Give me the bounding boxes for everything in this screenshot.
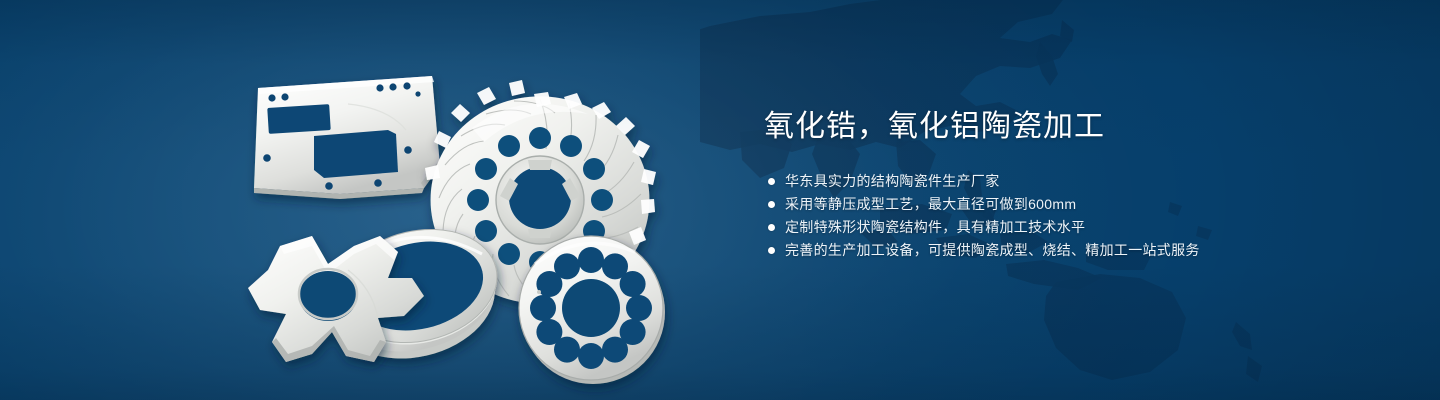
feature-text: 华东具实力的结构陶瓷件生产厂家 [785, 170, 1000, 192]
bullet-dot-icon [768, 201, 775, 208]
bullet-dot-icon [768, 224, 775, 231]
feature-text: 采用等静压成型工艺，最大直径可做到600mm [785, 193, 1076, 215]
ceramic-mounting-plate [254, 76, 440, 199]
page-title: 氧化锆，氧化铝陶瓷加工 [764, 108, 1384, 146]
feature-text: 定制特殊形状陶瓷结构件，具有精加工技术水平 [785, 216, 1085, 238]
bullet-dot-icon [768, 247, 775, 254]
list-item: 定制特殊形状陶瓷结构件，具有精加工技术水平 [764, 216, 1384, 238]
list-item: 华东具实力的结构陶瓷件生产厂家 [764, 170, 1384, 192]
copy-block: 氧化锆，氧化铝陶瓷加工 华东具实力的结构陶瓷件生产厂家 采用等静压成型工艺，最大… [764, 108, 1384, 262]
feature-list: 华东具实力的结构陶瓷件生产厂家 采用等静压成型工艺，最大直径可做到600mm 定… [764, 170, 1384, 261]
bullet-dot-icon [768, 178, 775, 185]
feature-text: 完善的生产加工设备，可提供陶瓷成型、烧结、精加工一站式服务 [785, 239, 1200, 261]
list-item: 完善的生产加工设备，可提供陶瓷成型、烧结、精加工一站式服务 [764, 239, 1384, 261]
ceramic-perforated-disc [519, 236, 665, 384]
list-item: 采用等静压成型工艺，最大直径可做到600mm [764, 193, 1384, 215]
hero-banner: 氧化锆，氧化铝陶瓷加工 华东具实力的结构陶瓷件生产厂家 采用等静压成型工艺，最大… [0, 0, 1440, 400]
product-photo-group [228, 38, 688, 383]
